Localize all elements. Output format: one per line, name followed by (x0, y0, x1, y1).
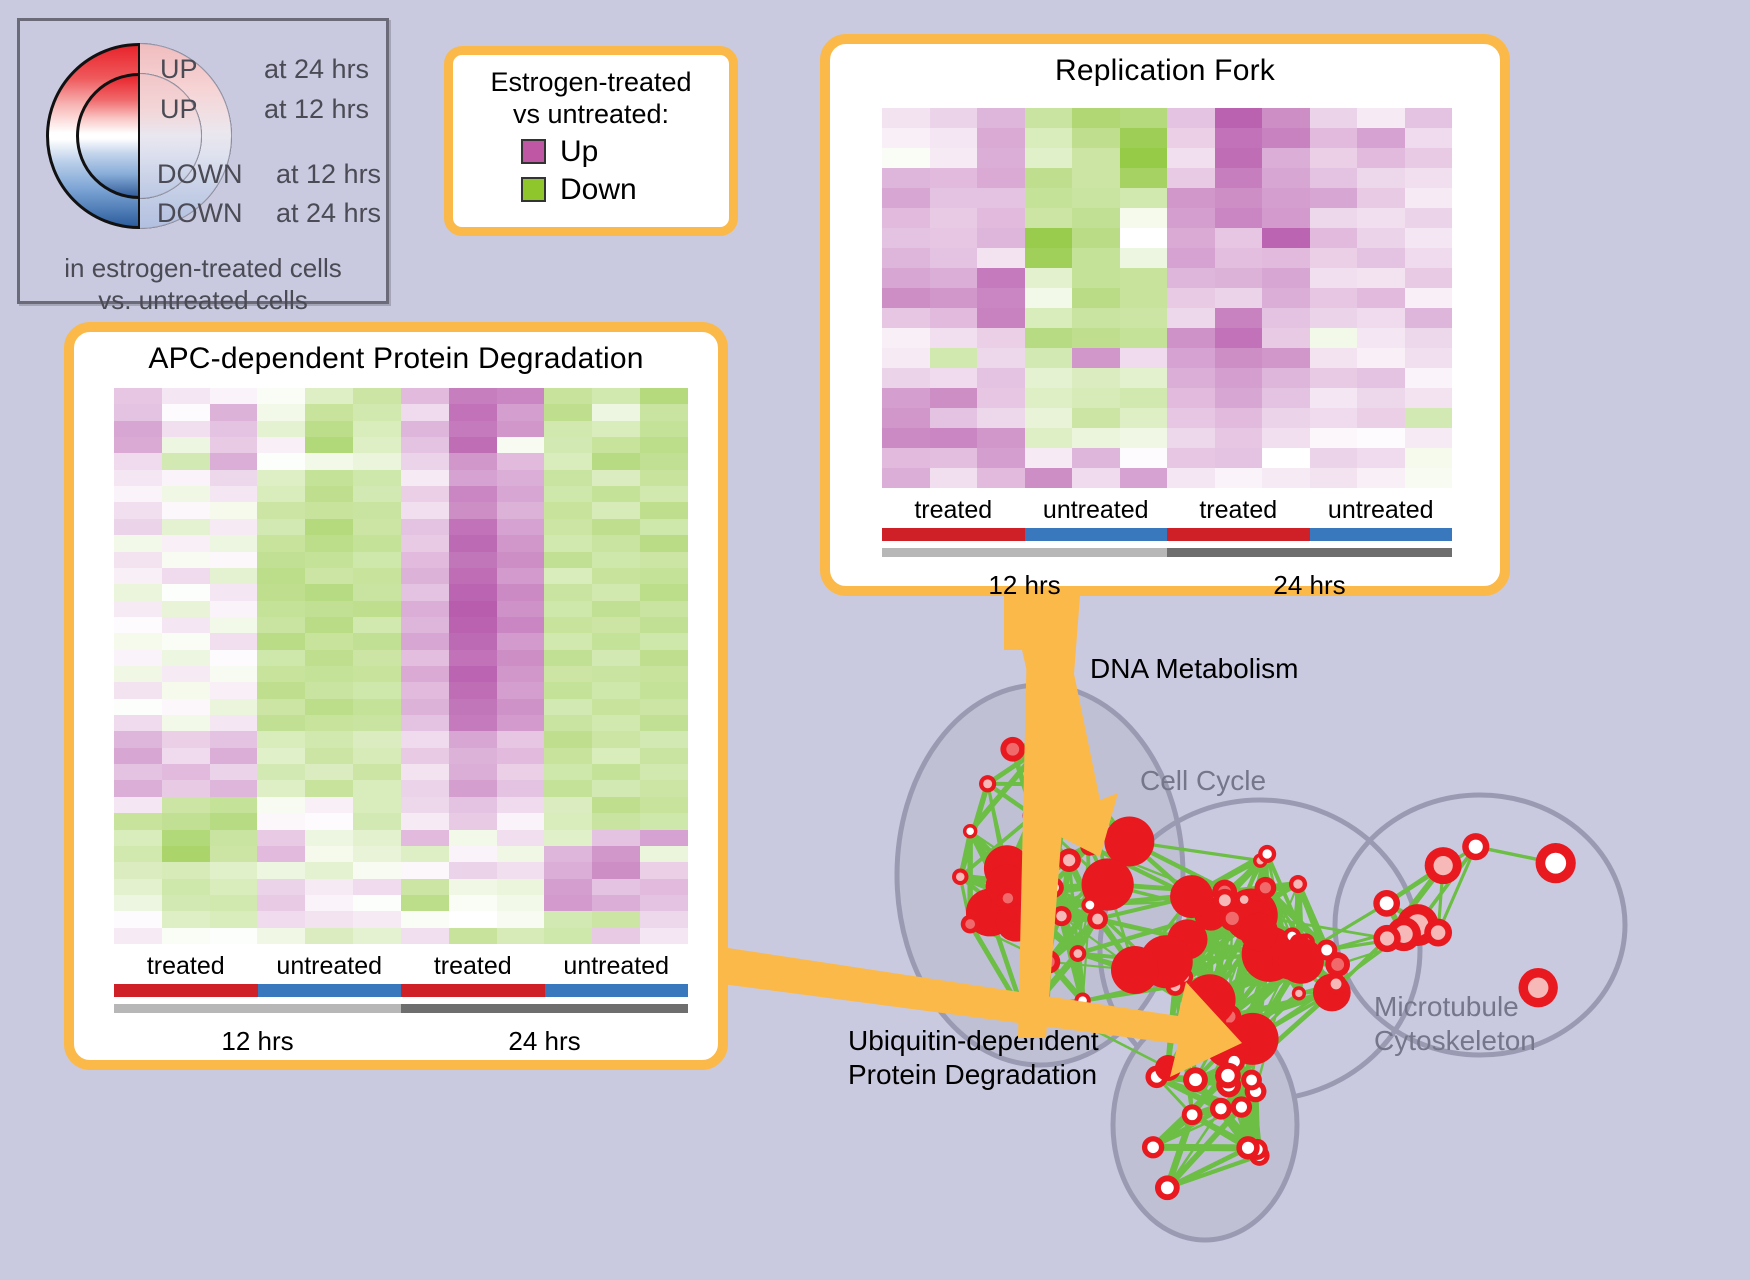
axis-group-bars (114, 984, 688, 997)
heatmap-cell (544, 879, 592, 895)
heatmap-cell (1025, 248, 1073, 268)
heatmap-cell (544, 568, 592, 584)
heatmap-cell (1405, 168, 1453, 188)
heatmap-cell (544, 830, 592, 846)
heatmap-cell (114, 601, 162, 617)
figure-canvas: UP at 24 hrs UP at 12 hrs DOWN at 12 hrs… (0, 0, 1750, 1279)
heatmap-cell (114, 437, 162, 453)
heatmap-cell (257, 830, 305, 846)
heatmap-cell (305, 895, 353, 911)
heatmap-cell (210, 601, 258, 617)
heatmap-cell (640, 911, 688, 927)
key-label-up-24: UP (160, 54, 198, 85)
heatmap-cell (592, 830, 640, 846)
heatmap-cell (544, 404, 592, 420)
heatmap-cell (497, 797, 545, 813)
heatmap-cell (882, 148, 930, 168)
heatmap-cell (449, 404, 497, 420)
heatmap-cell (640, 813, 688, 829)
heatmap-cell (353, 682, 401, 698)
network-node-core (1081, 796, 1091, 806)
heatmap-cell (257, 650, 305, 666)
heatmap-cell (449, 633, 497, 649)
heatmap-cell (162, 764, 210, 780)
heatmap-cell (1167, 188, 1215, 208)
heatmap-cell (162, 388, 210, 404)
heatmap-cell (353, 731, 401, 747)
heatmap-cell (353, 748, 401, 764)
heatmap-cell (162, 813, 210, 829)
heatmap-cell (257, 813, 305, 829)
heatmap-cell (114, 911, 162, 927)
heatmap-cell (930, 188, 978, 208)
heatmap-cell (1357, 388, 1405, 408)
heatmap-cell (449, 699, 497, 715)
network-node-core (1043, 956, 1055, 968)
heatmap-cell (1215, 468, 1263, 488)
axis-time-bar-0 (882, 548, 1167, 557)
heatmap-cell (930, 448, 978, 468)
heatmap-cell (305, 568, 353, 584)
heatmap-cell (1310, 128, 1358, 148)
heatmap-cell (401, 486, 449, 502)
heatmap-cell (544, 617, 592, 633)
heatmap-cell (1120, 448, 1168, 468)
heatmap-cell (401, 928, 449, 944)
network-node-core (956, 872, 965, 881)
heatmap-cell (1072, 268, 1120, 288)
heatmap-cell (640, 453, 688, 469)
heatmap-cell (544, 813, 592, 829)
axis-group-label-untreated-1: untreated (258, 952, 402, 981)
heatmap-cell (353, 617, 401, 633)
heatmap-cell (114, 519, 162, 535)
heatmap-cell (401, 895, 449, 911)
cluster-label-microtubule: Microtubule Cytoskeleton (1374, 990, 1536, 1058)
heatmap-cell (210, 633, 258, 649)
heatmap-cell (640, 568, 688, 584)
heatmap-cell (449, 862, 497, 878)
heatmap-cell (882, 268, 930, 288)
network-node-core (1260, 882, 1271, 893)
network-edge (1153, 1147, 1248, 1148)
heatmap-cell (210, 715, 258, 731)
network-node-core (1380, 896, 1394, 910)
network-node-core (1035, 745, 1043, 753)
heatmap-cell (210, 797, 258, 813)
heatmap-cell (114, 617, 162, 633)
axis-time-label-0: 12 hrs (114, 1026, 401, 1057)
heatmap-cell (930, 468, 978, 488)
heatmap-cell (1215, 368, 1263, 388)
heatmap-cell (592, 617, 640, 633)
heatmap-cell (401, 453, 449, 469)
heatmap-cell (449, 535, 497, 551)
heatmap-cell (640, 519, 688, 535)
axis-group-bar-0 (882, 528, 1025, 541)
heatmap-cell (353, 715, 401, 731)
network-node-core (1331, 958, 1344, 971)
heatmap-cell (257, 601, 305, 617)
heatmap-cell (977, 348, 1025, 368)
heatmap-cell (1310, 288, 1358, 308)
heatmap-cell (1357, 188, 1405, 208)
heatmap-cell (401, 764, 449, 780)
axis-time-label-0: 12 hrs (882, 570, 1167, 601)
heatmap-cell (162, 437, 210, 453)
heatmap-cell (1405, 248, 1453, 268)
heatmap-cell (210, 846, 258, 862)
heatmap-cell (882, 208, 930, 228)
heatmap-cell (162, 502, 210, 518)
heatmap-cell (1310, 108, 1358, 128)
heatmap-cell (210, 617, 258, 633)
heatmap-apc-degradation (114, 388, 688, 944)
heatmap-cell (401, 748, 449, 764)
heatmap-cell (640, 846, 688, 862)
heatmap-cell (592, 911, 640, 927)
heatmap-cell (1215, 268, 1263, 288)
heatmap-cell (210, 453, 258, 469)
heatmap-cell (1120, 148, 1168, 168)
heatmap-cell (497, 568, 545, 584)
heatmap-cell (882, 248, 930, 268)
heatmap-cell (210, 928, 258, 944)
heatmap-cell (353, 764, 401, 780)
network-node-core (1331, 978, 1342, 989)
heatmap-cell (882, 428, 930, 448)
heatmap-cell (640, 584, 688, 600)
heatmap-cell (305, 502, 353, 518)
heatmap-cell (1405, 468, 1453, 488)
heatmap-cell (257, 437, 305, 453)
heatmap-cell (401, 633, 449, 649)
heatmap-cell (1167, 128, 1215, 148)
heatmap-cell (401, 388, 449, 404)
heatmap-cell (353, 552, 401, 568)
heatmap-cell (401, 650, 449, 666)
heatmap-cell (353, 633, 401, 649)
heatmap-cell (401, 699, 449, 715)
heatmap-cell (977, 208, 1025, 228)
heatmap-cell (449, 830, 497, 846)
heatmap-cell (544, 862, 592, 878)
heatmap-cell (1405, 328, 1453, 348)
heatmap-cell (930, 348, 978, 368)
heatmap-cell (544, 584, 592, 600)
heatmap-cell (497, 879, 545, 895)
heatmap-cell (257, 928, 305, 944)
heatmap-cell (497, 388, 545, 404)
heatmap-cell (1215, 128, 1263, 148)
heatmap-cell (1072, 128, 1120, 148)
heatmap-cell (1262, 328, 1310, 348)
network-node-core (1043, 1002, 1050, 1009)
heatmap-cell (544, 650, 592, 666)
heatmap-cell (592, 568, 640, 584)
heatmap-cell (1357, 168, 1405, 188)
heatmap-cell (114, 797, 162, 813)
heatmap-cell (1405, 128, 1453, 148)
heatmap-cell (1262, 448, 1310, 468)
heatmap-cell (544, 699, 592, 715)
axis-group-bar-1 (1025, 528, 1168, 541)
heatmap-cell (114, 453, 162, 469)
heatmap-cell (401, 911, 449, 927)
axis-time-bar-0 (114, 1004, 401, 1013)
network-node (1184, 974, 1235, 1025)
heatmap-cell (592, 552, 640, 568)
heatmap-cell (592, 486, 640, 502)
color-key-footer-line2: vs. untreated cells (20, 285, 386, 317)
heatmap-cell (1072, 228, 1120, 248)
heatmap-cell (1262, 208, 1310, 228)
heatmap-cell (162, 731, 210, 747)
heatmap-cell (640, 552, 688, 568)
heatmap-cell (640, 715, 688, 731)
heatmap-cell (497, 780, 545, 796)
key-label-down-12: DOWN (157, 159, 242, 190)
heatmap-cell (1025, 208, 1073, 228)
heatmap-cell (449, 568, 497, 584)
heatmap-cell (1405, 428, 1453, 448)
heatmap-cell (210, 470, 258, 486)
heatmap-cell (401, 535, 449, 551)
heatmap-cell (1405, 368, 1453, 388)
heatmap-cell (353, 846, 401, 862)
heatmap-cell (210, 748, 258, 764)
heatmap-cell (930, 388, 978, 408)
heatmap-cell (257, 486, 305, 502)
heatmap-cell (257, 731, 305, 747)
heatmap-cell (977, 468, 1025, 488)
heatmap-cell (210, 682, 258, 698)
heatmap-cell (257, 404, 305, 420)
heatmap-cell (544, 437, 592, 453)
heatmap-cell (1215, 248, 1263, 268)
heatmap-cell (882, 168, 930, 188)
heatmap-cell (305, 421, 353, 437)
axis-apc: treateduntreatedtreateduntreated12 hrs24… (114, 952, 688, 1057)
heatmap-cell (1167, 208, 1215, 228)
heatmap-cell (210, 650, 258, 666)
heatmap-cell (1120, 368, 1168, 388)
legend-item-up: Up (521, 135, 729, 169)
heatmap-cell (640, 633, 688, 649)
heatmap-cell (305, 437, 353, 453)
heatmap-cell (497, 470, 545, 486)
heatmap-cell (114, 813, 162, 829)
heatmap-cell (162, 715, 210, 731)
heatmap-cell (449, 895, 497, 911)
heatmap-cell (882, 468, 930, 488)
heatmap-cell (1120, 468, 1168, 488)
heatmap-cell (257, 552, 305, 568)
heatmap-cell (977, 368, 1025, 388)
heatmap-cell (592, 797, 640, 813)
heatmap-cell (640, 601, 688, 617)
axis-time-bars (114, 1004, 688, 1013)
heatmap-cell (592, 682, 640, 698)
heatmap-cell (305, 813, 353, 829)
network-node (1111, 946, 1159, 994)
heatmap-cell (1072, 388, 1120, 408)
heatmap-cell (544, 421, 592, 437)
heatmap-cell (401, 813, 449, 829)
heatmap-cell (449, 388, 497, 404)
heatmap-cell (1405, 108, 1453, 128)
heatmap-cell (401, 437, 449, 453)
heatmap-cell (210, 404, 258, 420)
heatmap-cell (497, 519, 545, 535)
network-node-core (1066, 780, 1075, 789)
cluster-label-cell-cycle: Cell Cycle (1140, 765, 1266, 797)
legend-label-down: Down (560, 173, 637, 207)
heatmap-cell (353, 895, 401, 911)
heatmap-cell (1120, 248, 1168, 268)
heatmap-cell (1405, 228, 1453, 248)
network-node-core (1048, 882, 1059, 893)
heatmap-cell (210, 830, 258, 846)
heatmap-cell (162, 421, 210, 437)
legend-swatch-down-icon (521, 177, 546, 202)
heatmap-cell (1072, 468, 1120, 488)
heatmap-cell (882, 368, 930, 388)
heatmap-cell (930, 128, 978, 148)
heatmap-cell (497, 502, 545, 518)
heatmap-cell (353, 388, 401, 404)
heatmap-cell (257, 519, 305, 535)
heatmap-cell (162, 650, 210, 666)
network-node-core (1003, 893, 1013, 903)
heatmap-cell (1357, 328, 1405, 348)
heatmap-cell (449, 421, 497, 437)
heatmap-cell (544, 682, 592, 698)
heatmap-cell (977, 268, 1025, 288)
axis-group-bars (882, 528, 1452, 541)
heatmap-cell (1120, 388, 1168, 408)
heatmap-cell (449, 617, 497, 633)
heatmap-cell (544, 633, 592, 649)
heatmap-cell (257, 780, 305, 796)
axis-group-label-untreated-3: untreated (1310, 496, 1453, 525)
heatmap-cell (353, 437, 401, 453)
network-node-core (1246, 1075, 1257, 1086)
heatmap-cell (401, 666, 449, 682)
panel-apc-degradation: APC-dependent Protein Degradation treate… (64, 322, 728, 1070)
heatmap-cell (353, 453, 401, 469)
heatmap-cell (1025, 128, 1073, 148)
heatmap-cell (977, 448, 1025, 468)
heatmap-cell (1072, 248, 1120, 268)
heatmap-cell (1357, 268, 1405, 288)
heatmap-cell (210, 437, 258, 453)
heatmap-cell (1167, 108, 1215, 128)
heatmap-cell (114, 633, 162, 649)
heatmap-cell (1310, 168, 1358, 188)
key-time-up-12: at 12 hrs (264, 94, 369, 125)
heatmap-cell (353, 519, 401, 535)
heatmap-cell (1310, 448, 1358, 468)
color-key-footer: in estrogen-treated cells vs. untreated … (20, 253, 386, 316)
heatmap-cell (977, 108, 1025, 128)
heatmap-cell (1072, 148, 1120, 168)
heatmap-cell (1262, 308, 1310, 328)
network-node-core (966, 827, 974, 835)
heatmap-cell (114, 404, 162, 420)
heatmap-cell (162, 846, 210, 862)
heatmap-cell (1025, 108, 1073, 128)
heatmap-cell (353, 813, 401, 829)
heatmap-cell (544, 911, 592, 927)
heatmap-cell (1262, 128, 1310, 148)
network-diagram: DNA Metabolism Cell Cycle Microtubule Cy… (790, 620, 1750, 1280)
heatmap-cell (592, 780, 640, 796)
heatmap-cell (1262, 148, 1310, 168)
heatmap-cell (1405, 308, 1453, 328)
heatmap-cell (449, 879, 497, 895)
network-node-core (1221, 1069, 1234, 1082)
heatmap-cell (353, 911, 401, 927)
heatmap-cell (305, 470, 353, 486)
heatmap-cell (1025, 408, 1073, 428)
heatmap-cell (592, 666, 640, 682)
network-node-core (1431, 925, 1445, 939)
heatmap-cell (1120, 188, 1168, 208)
heatmap-cell (977, 128, 1025, 148)
axis-group-labels: treateduntreatedtreateduntreated (114, 952, 688, 981)
heatmap-cell (449, 470, 497, 486)
heatmap-cell (305, 453, 353, 469)
heatmap-cell (1025, 328, 1073, 348)
heatmap-cell (1310, 148, 1358, 168)
heatmap-cell (210, 421, 258, 437)
heatmap-cell (497, 535, 545, 551)
heatmap-cell (1405, 288, 1453, 308)
key-label-up-12: UP (160, 94, 198, 125)
heatmap-cell (305, 552, 353, 568)
heatmap-cell (305, 584, 353, 600)
heatmap-cell (305, 650, 353, 666)
heatmap-cell (1120, 128, 1168, 148)
heatmap-cell (210, 568, 258, 584)
heatmap-cell (449, 813, 497, 829)
heatmap-cell (882, 408, 930, 428)
heatmap-cell (353, 568, 401, 584)
heatmap-cell (401, 797, 449, 813)
heatmap-cell (162, 486, 210, 502)
network-node-core (1545, 853, 1566, 874)
legend-item-down: Down (521, 173, 729, 207)
heatmap-cell (882, 348, 930, 368)
heatmap-cell (210, 552, 258, 568)
heatmap-cell (544, 764, 592, 780)
heatmap-cell (1025, 188, 1073, 208)
heatmap-cell (1120, 428, 1168, 448)
legend-swatch-up-icon (521, 139, 546, 164)
axis-group-label-untreated-1: untreated (1025, 496, 1168, 525)
network-node-core (1078, 996, 1086, 1004)
heatmap-cell (210, 535, 258, 551)
heatmap-cell (592, 764, 640, 780)
heatmap-cell (401, 519, 449, 535)
heatmap-cell (1215, 328, 1263, 348)
network-node-core (1063, 854, 1075, 866)
heatmap-cell (305, 633, 353, 649)
heatmap-cell (162, 748, 210, 764)
heatmap-cell (640, 764, 688, 780)
heatmap-cell (305, 846, 353, 862)
